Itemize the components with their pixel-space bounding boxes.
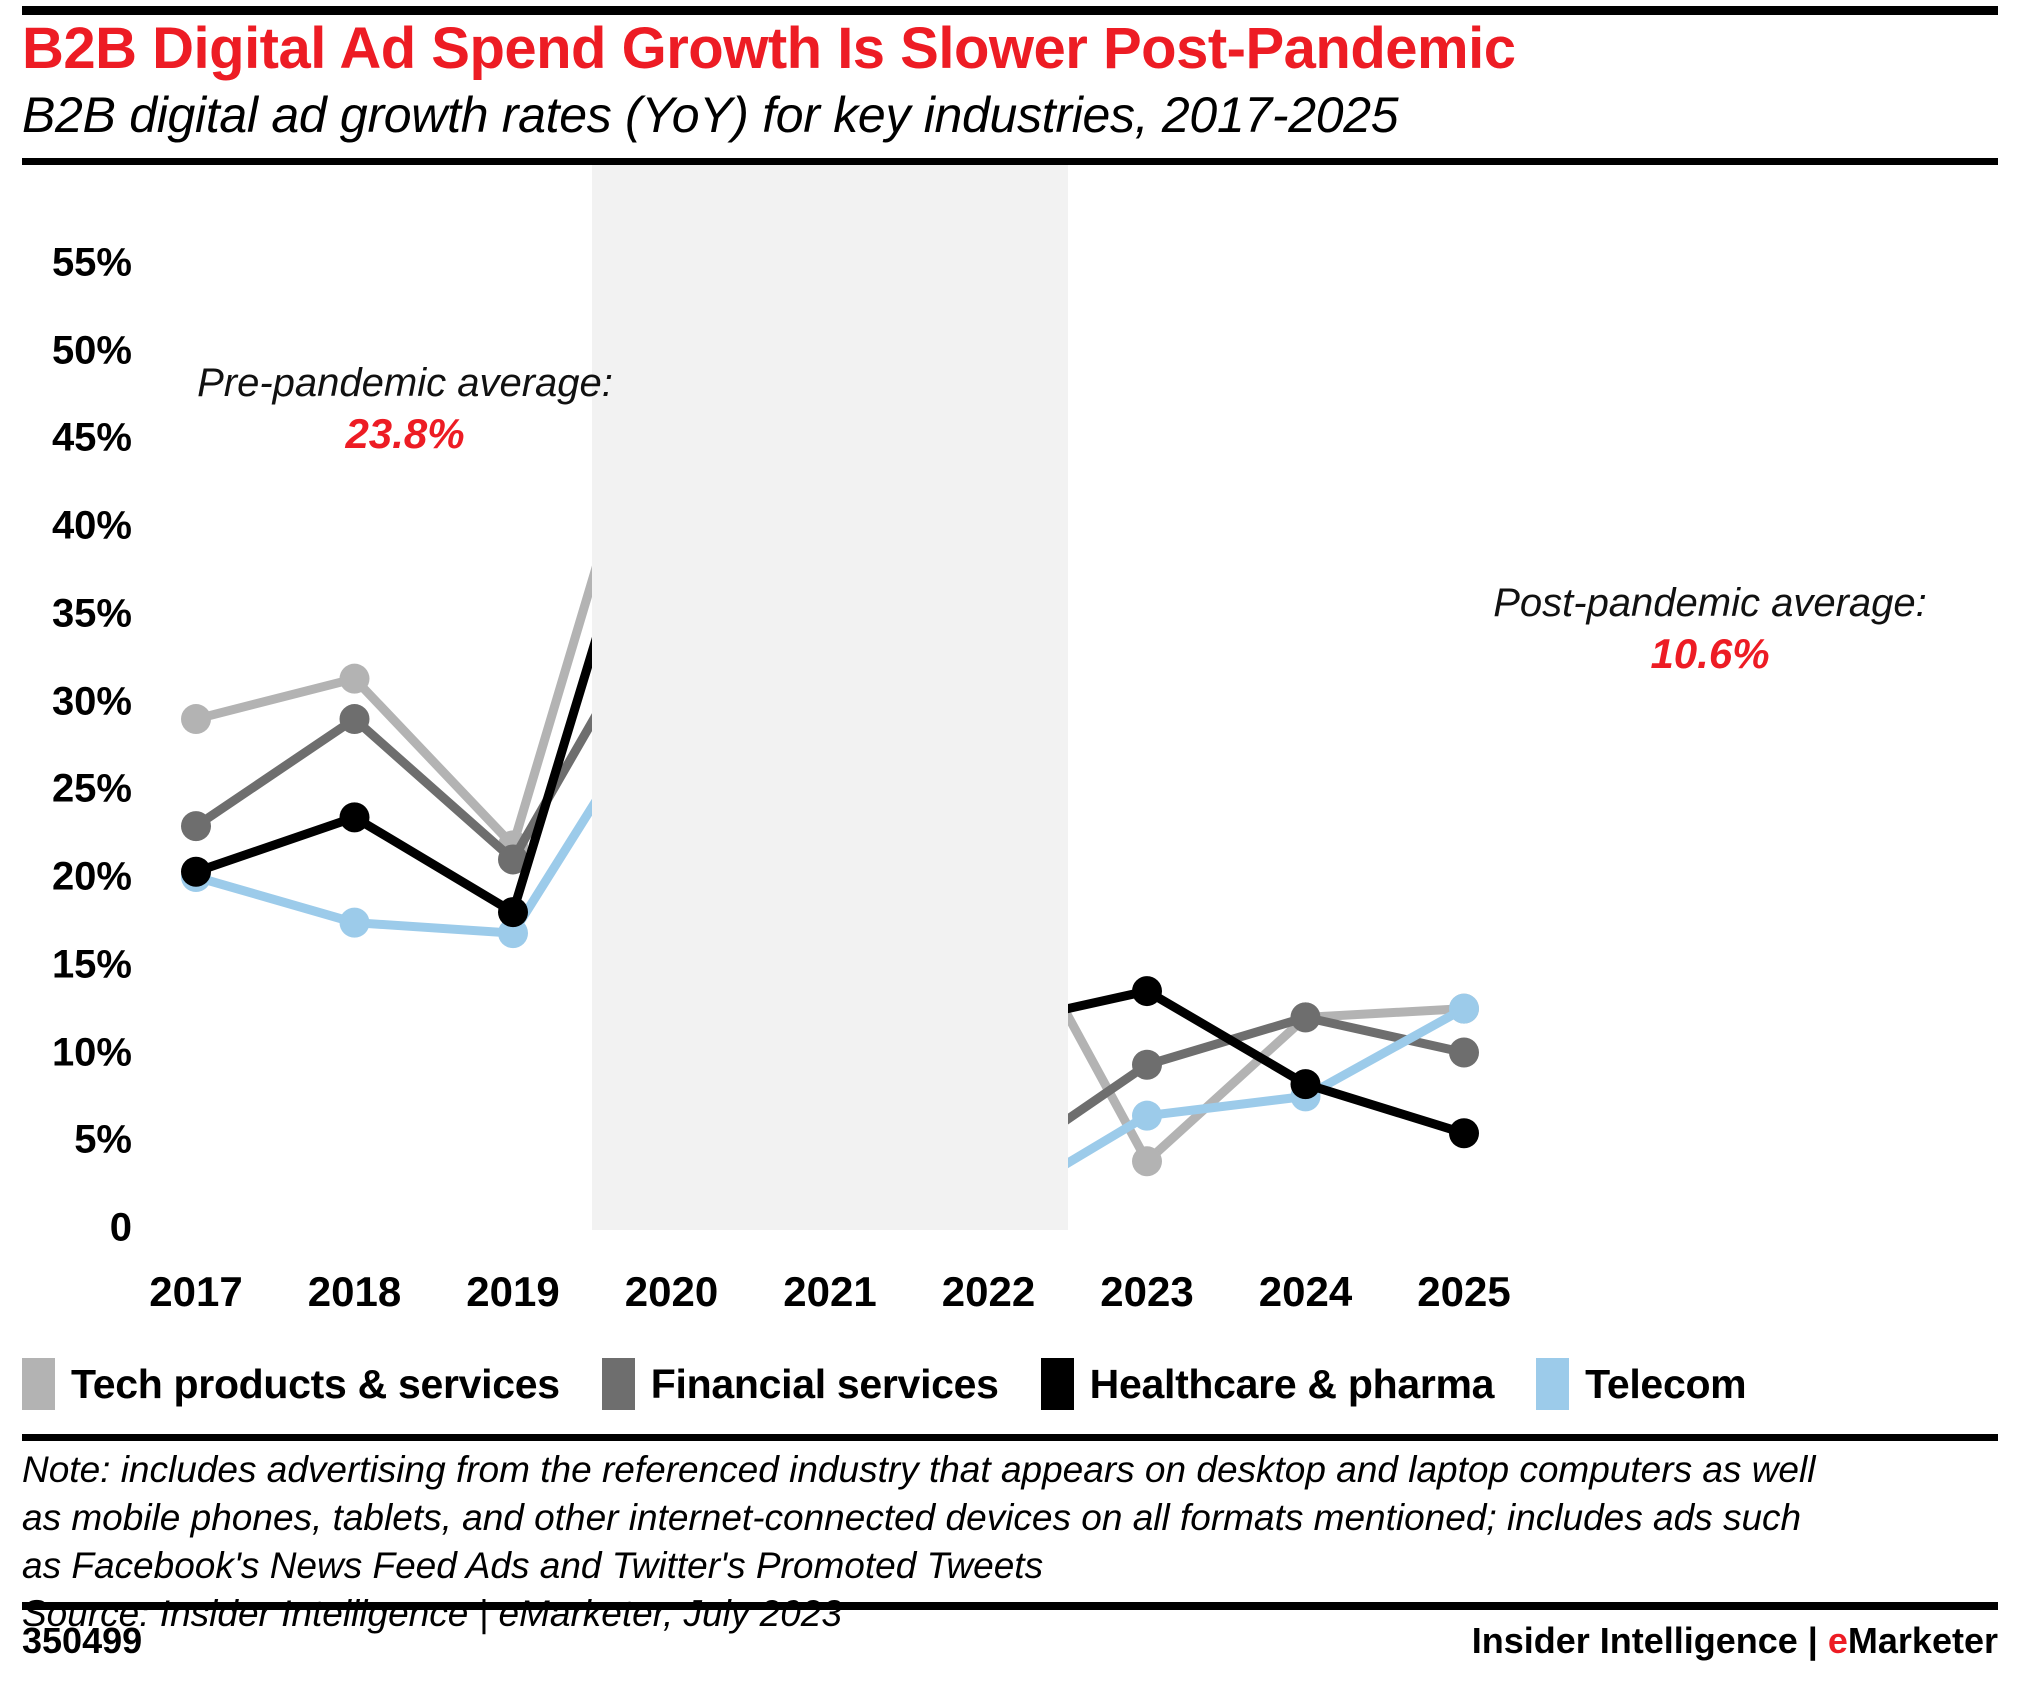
x-axis-tick-label: 2024 [1259, 1268, 1352, 1316]
legend-label: Telecom [1585, 1361, 1746, 1408]
x-axis-tick-label: 2025 [1417, 1268, 1510, 1316]
series-point [1449, 1118, 1479, 1148]
bottom-rule [22, 1602, 1998, 1610]
brand-e: e [1828, 1620, 1848, 1661]
y-axis-tick-label: 15% [0, 942, 132, 987]
legend-label: Tech products & services [71, 1361, 560, 1408]
x-axis-tick-label: 2021 [783, 1268, 876, 1316]
legend-swatch-icon [22, 1358, 55, 1410]
annotation-post-value: 10.6% [1460, 627, 1960, 682]
series-point [498, 897, 528, 927]
series-point [340, 802, 370, 832]
series-point [340, 664, 370, 694]
legend-item[interactable]: Tech products & services [22, 1358, 560, 1410]
page-subtitle: B2B digital ad growth rates (YoY) for ke… [22, 88, 2002, 142]
annotation-pre-pandemic: Pre-pandemic average: 23.8% [175, 360, 635, 462]
legend-swatch-icon [602, 1358, 635, 1410]
annotation-pre-value: 23.8% [175, 407, 635, 462]
x-axis-tick-label: 2017 [149, 1268, 242, 1316]
annotation-post-pandemic: Post-pandemic average: 10.6% [1460, 580, 1960, 682]
series-point [1132, 1050, 1162, 1080]
note-line-2: as mobile phones, tablets, and other int… [22, 1494, 1998, 1542]
series-point [181, 811, 211, 841]
series-point [1132, 976, 1162, 1006]
y-axis-tick-label: 35% [0, 591, 132, 636]
y-axis-tick-label: 55% [0, 240, 132, 285]
x-axis-tick-label: 2019 [466, 1268, 559, 1316]
series-point [1132, 1101, 1162, 1131]
note-line-1: Note: includes advertising from the refe… [22, 1446, 1998, 1494]
y-axis-tick-label: 5% [0, 1118, 132, 1163]
x-axis-tick-label: 2018 [308, 1268, 401, 1316]
title-divider [22, 158, 1998, 165]
y-axis-tick-label: 0 [0, 1206, 132, 1251]
y-axis-tick-label: 25% [0, 767, 132, 812]
series-point [340, 908, 370, 938]
pandemic-shaded-band [592, 165, 1068, 1230]
page-title: B2B Digital Ad Spend Growth Is Slower Po… [22, 18, 2002, 81]
y-axis-tick-label: 45% [0, 416, 132, 461]
legend-swatch-icon [1041, 1358, 1074, 1410]
note-line-3: as Facebook's News Feed Ads and Twitter'… [22, 1542, 1998, 1590]
series-point [1291, 1002, 1321, 1032]
chart-plot-area: 55%50%45%40%35%30%25%20%15%10%5%0 201720… [0, 165, 2020, 1260]
series-point [1449, 1038, 1479, 1068]
x-axis-tick-label: 2020 [625, 1268, 718, 1316]
brand-suffix: Marketer [1848, 1620, 1998, 1661]
y-axis-tick-label: 40% [0, 504, 132, 549]
notes-divider [22, 1434, 1998, 1441]
figure-id: 350499 [22, 1620, 142, 1662]
legend-item[interactable]: Healthcare & pharma [1041, 1358, 1494, 1410]
series-point [181, 857, 211, 887]
series-point [1291, 1069, 1321, 1099]
x-axis-tick-label: 2023 [1100, 1268, 1193, 1316]
y-axis-tick-label: 10% [0, 1030, 132, 1075]
legend-label: Healthcare & pharma [1090, 1361, 1494, 1408]
brand-prefix: Insider Intelligence | [1472, 1620, 1828, 1661]
legend-item[interactable]: Telecom [1536, 1358, 1746, 1410]
top-rule [22, 6, 1998, 15]
chart-legend: Tech products & servicesFinancial servic… [22, 1358, 1788, 1410]
legend-item[interactable]: Financial services [602, 1358, 999, 1410]
series-point [1132, 1146, 1162, 1176]
brand-logo: Insider Intelligence | eMarketer [1472, 1620, 1998, 1662]
legend-label: Financial services [651, 1361, 999, 1408]
annotation-post-label: Post-pandemic average: [1460, 580, 1960, 627]
y-axis-tick-label: 30% [0, 679, 132, 724]
y-axis-tick-label: 50% [0, 328, 132, 373]
annotation-pre-label: Pre-pandemic average: [175, 360, 635, 407]
y-axis-tick-label: 20% [0, 855, 132, 900]
x-axis-tick-label: 2022 [942, 1268, 1035, 1316]
series-point [340, 704, 370, 734]
series-point [181, 704, 211, 734]
series-point [1449, 994, 1479, 1024]
legend-swatch-icon [1536, 1358, 1569, 1410]
